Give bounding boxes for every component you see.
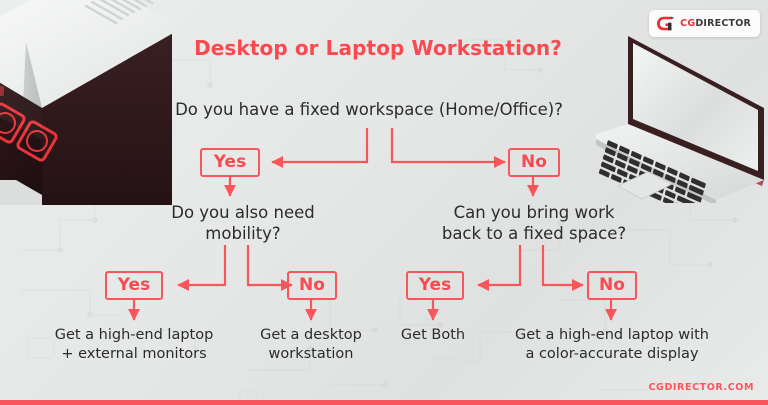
answer-4-line1: Get a high-end laptop with [485, 326, 739, 345]
page-title: Desktop or Laptop Workstation? [0, 36, 768, 60]
question-root: Do you have a fixed workspace (Home/Offi… [134, 99, 604, 120]
answer-3-line1: Get Both [383, 326, 483, 345]
cgdirector-logo[interactable]: CGDIRECTOR [649, 10, 760, 37]
flowchart: Desktop or Laptop Workstation? Do you ha… [0, 0, 768, 405]
page-title-text: Desktop or Laptop Workstation? [194, 36, 562, 60]
logo-wordmark: CGDIRECTOR [680, 18, 751, 29]
answer-get-both: Get Both [383, 326, 483, 345]
question-mobility: Do you also need mobility? [118, 202, 368, 244]
decision-no-1[interactable]: No [508, 148, 560, 177]
decision-yes-1[interactable]: Yes [200, 148, 260, 177]
logo-wordmark-cg: CG [680, 18, 695, 29]
decision-no-3[interactable]: No [587, 271, 637, 300]
decision-yes-3[interactable]: Yes [406, 271, 464, 300]
answer-4-line2: a color-accurate display [485, 345, 739, 364]
answer-laptop-external-monitors: Get a high-end laptop + external monitor… [28, 326, 240, 364]
cgdirector-g-mark [656, 15, 675, 32]
answer-1-line1: Get a high-end laptop [28, 326, 240, 345]
decision-yes-2[interactable]: Yes [105, 271, 163, 300]
answer-2-line2: workstation [243, 345, 379, 364]
infographic-canvas: CGDIRECTOR [0, 0, 768, 405]
answer-desktop-workstation: Get a desktop workstation [243, 326, 379, 364]
answer-1-line2: + external monitors [28, 345, 240, 364]
question-mobility-line2: mobility? [118, 223, 368, 244]
logo-wordmark-director: DIRECTOR [695, 18, 751, 29]
answer-color-accurate-laptop: Get a high-end laptop with a color-accur… [485, 326, 739, 364]
question-bring-work-back-line1: Can you bring work [404, 202, 664, 223]
answer-2-line1: Get a desktop [243, 326, 379, 345]
question-bring-work-back: Can you bring work back to a fixed space… [404, 202, 664, 244]
question-bring-work-back-line2: back to a fixed space? [404, 223, 664, 244]
decision-no-2[interactable]: No [287, 271, 337, 300]
question-mobility-line1: Do you also need [118, 202, 368, 223]
